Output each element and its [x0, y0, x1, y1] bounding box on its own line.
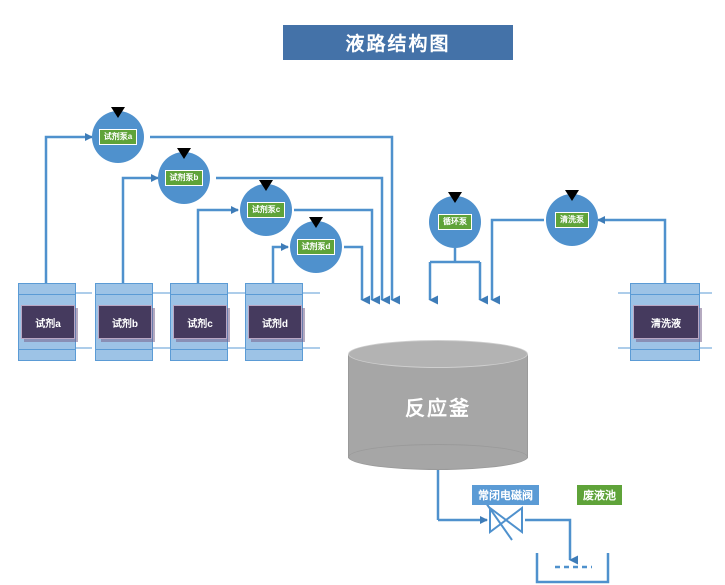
pump-label: 试剂泵c: [247, 202, 285, 218]
bottle-label-chip: 试剂c: [173, 305, 227, 339]
reactor-label: 反应釜: [348, 392, 528, 421]
bottle-band: [630, 349, 700, 350]
solenoid-valve-tag: 常闭电磁阀: [472, 485, 539, 505]
reactor-vessel[interactable]: 反应釜: [348, 340, 528, 470]
bottle-label: 清洗液: [651, 315, 681, 330]
reagent-bottle-b[interactable]: 试剂b: [95, 283, 153, 361]
bottle-band: [630, 294, 700, 295]
reagent-pump-a[interactable]: 试剂泵a: [92, 111, 144, 163]
pump-cap-icon: [111, 107, 125, 118]
cleaning-pump[interactable]: 清洗泵: [546, 194, 598, 246]
pump-label: 试剂泵d: [297, 239, 336, 255]
pump-cap-icon: [309, 217, 323, 228]
reagent-pump-d[interactable]: 试剂泵d: [290, 221, 342, 273]
bottle-band: [245, 349, 303, 350]
cleaning-liquid-bottle[interactable]: 清洗液: [630, 283, 700, 361]
pump-cap-icon: [448, 192, 462, 203]
bottle-band: [18, 349, 76, 350]
reagent-pump-b[interactable]: 试剂泵b: [158, 152, 210, 204]
reagent-bottle-d[interactable]: 试剂d: [245, 283, 303, 361]
pump-label: 试剂泵b: [165, 170, 204, 186]
pump-cap-icon: [565, 190, 579, 201]
reactor-bottom-ellipse: [348, 444, 528, 470]
bottle-label-chip: 试剂b: [98, 305, 152, 339]
waste-pool-tank: [537, 553, 608, 582]
bottle-label: 试剂a: [35, 315, 61, 330]
circulation-pump[interactable]: 循环泵: [429, 196, 481, 248]
waste-pool-label: 废液池: [583, 487, 616, 503]
solenoid-valve-label: 常闭电磁阀: [478, 487, 533, 503]
pump-cap-icon: [177, 148, 191, 159]
solenoid-valve-symbol: [486, 503, 522, 540]
pump-label: 清洗泵: [555, 212, 589, 228]
bottle-label: 试剂b: [112, 315, 138, 330]
bottle-label-chip: 试剂d: [248, 305, 302, 339]
diagram-canvas: 液路结构图: [0, 0, 725, 585]
bottle-label: 试剂c: [187, 315, 213, 330]
bottle-label-chip: 清洗液: [633, 305, 699, 339]
reagent-pump-c[interactable]: 试剂泵c: [240, 184, 292, 236]
reagent-bottle-a[interactable]: 试剂a: [18, 283, 76, 361]
bottle-label: 试剂d: [262, 315, 288, 330]
bottle-band: [95, 349, 153, 350]
bottle-band: [95, 294, 153, 295]
pump-label: 试剂泵a: [99, 129, 137, 145]
bottle-label-chip: 试剂a: [21, 305, 75, 339]
pump-label: 循环泵: [438, 214, 472, 230]
bottle-band: [245, 294, 303, 295]
bottle-band: [18, 294, 76, 295]
reactor-top-ellipse: [348, 340, 528, 368]
reagent-bottle-c[interactable]: 试剂c: [170, 283, 228, 361]
bottle-band: [170, 349, 228, 350]
bottle-band: [170, 294, 228, 295]
waste-pool-tag: 废液池: [577, 485, 622, 505]
pump-cap-icon: [259, 180, 273, 191]
